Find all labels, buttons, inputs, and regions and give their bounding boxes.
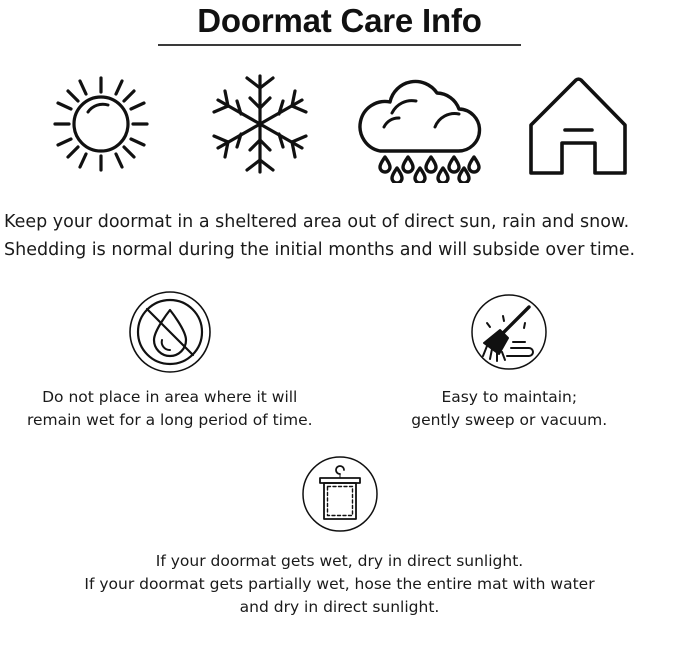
intro-line-2: Shedding is normal during the initial mo…: [4, 236, 675, 264]
drying-line-1: If your doormat gets wet, dry in direct …: [84, 550, 594, 573]
drying-instructions: If your doormat gets wet, dry in direct …: [0, 452, 679, 619]
care-item-line-1: Do not place in area where it will: [27, 386, 313, 409]
care-items-row: Do not place in area where it will remai…: [0, 290, 679, 432]
page-header: Doormat Care Info: [0, 0, 679, 46]
rain-cloud-icon: [344, 64, 494, 184]
page-title: Doormat Care Info: [0, 2, 679, 40]
no-water-icon: [128, 290, 212, 374]
house-icon: [503, 64, 653, 184]
intro-paragraph: Keep your doormat in a sheltered area ou…: [0, 208, 679, 264]
intro-line-1: Keep your doormat in a sheltered area ou…: [4, 208, 675, 236]
drying-caption: If your doormat gets wet, dry in direct …: [84, 550, 594, 619]
care-item-line-2: remain wet for a long period of time.: [27, 409, 313, 432]
title-underline-divider: [158, 44, 521, 46]
care-item-line-1: Easy to maintain;: [411, 386, 607, 409]
care-item-easy-maintain: Easy to maintain; gently sweep or vacuum…: [340, 290, 679, 432]
care-item-no-standing-water: Do not place in area where it will remai…: [0, 290, 340, 432]
care-item-caption: Do not place in area where it will remai…: [27, 386, 313, 432]
snowflake-icon: [185, 64, 335, 184]
drying-line-2: If your doormat gets partially wet, hose…: [84, 573, 594, 596]
care-item-caption: Easy to maintain; gently sweep or vacuum…: [411, 386, 607, 432]
weather-icon-row: [0, 64, 679, 184]
care-info-page: Doormat Care Info: [0, 0, 679, 655]
sun-icon: [26, 64, 176, 184]
drying-line-3: and dry in direct sunlight.: [84, 596, 594, 619]
hanging-mat-icon: [298, 452, 382, 536]
broom-icon: [467, 290, 551, 374]
care-item-line-2: gently sweep or vacuum.: [411, 409, 607, 432]
